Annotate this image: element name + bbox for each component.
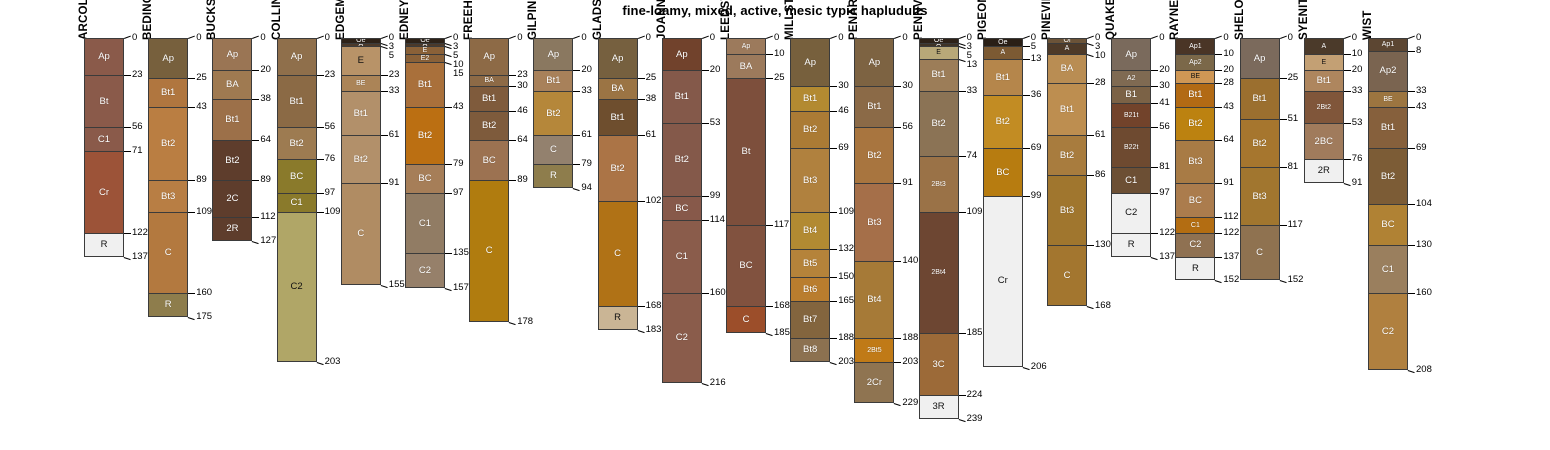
- horizon-ba[interactable]: BA: [212, 70, 252, 99]
- horizon-oe[interactable]: Oe: [983, 38, 1023, 46]
- horizon-c[interactable]: C: [469, 180, 509, 322]
- horizon-bt6[interactable]: Bt6: [790, 277, 830, 301]
- horizon-label: Bt2: [931, 119, 945, 129]
- profile-name-label: ARCOLA: [78, 0, 90, 40]
- horizon-bt1[interactable]: Bt1: [148, 78, 188, 107]
- horizon-bt1[interactable]: Bt1: [790, 86, 830, 112]
- horizon-label: A2: [1127, 75, 1136, 82]
- horizon-c[interactable]: C: [598, 201, 638, 306]
- depth-tick: [1408, 245, 1415, 246]
- horizon-be[interactable]: BE: [341, 75, 381, 91]
- horizon-ap[interactable]: Ap: [854, 38, 894, 86]
- horizon-bt8[interactable]: Bt8: [790, 338, 830, 362]
- horizon-ap[interactable]: Ap: [533, 38, 573, 70]
- depth-tick: [573, 135, 580, 136]
- horizon-c[interactable]: C: [726, 306, 766, 333]
- horizon-a[interactable]: A: [1304, 38, 1344, 54]
- depth-label: 175: [196, 312, 212, 322]
- horizon-bt5[interactable]: Bt5: [790, 249, 830, 278]
- horizon-bt2[interactable]: Bt2: [983, 95, 1023, 148]
- horizon-label: A: [1000, 49, 1005, 56]
- depth-tick: [1280, 119, 1287, 120]
- depth-label: 10: [1095, 51, 1106, 61]
- depth-label: 229: [902, 398, 918, 408]
- horizon-label: C2: [419, 266, 431, 276]
- horizon-bt2[interactable]: Bt2: [533, 91, 573, 136]
- horizon-bt3[interactable]: Bt3: [1175, 140, 1215, 183]
- horizon-label: C1: [419, 219, 431, 229]
- horizon-label: B1: [1125, 90, 1137, 100]
- horizon-c[interactable]: C: [533, 135, 573, 164]
- horizon-label: C: [486, 246, 493, 256]
- horizon-r[interactable]: R: [84, 233, 124, 257]
- horizon-ap2[interactable]: Ap2: [1175, 54, 1215, 70]
- horizon-c1[interactable]: C1: [1368, 245, 1408, 293]
- depth-label: 20: [710, 65, 721, 75]
- horizon-label: 2Bt3: [931, 181, 945, 188]
- profile-name-label: COLLINGTON: [271, 0, 283, 40]
- horizon-label: Ap1: [1189, 43, 1201, 50]
- horizon-bt2[interactable]: Bt2: [662, 123, 702, 196]
- depth-label: 46: [517, 106, 528, 116]
- depth-label: 38: [260, 94, 271, 104]
- horizon-r[interactable]: R: [1175, 257, 1215, 281]
- depth-label: 25: [1288, 73, 1299, 83]
- horizon-label: Ap1: [1382, 41, 1394, 48]
- horizon-c1[interactable]: C1: [405, 193, 445, 254]
- depth-label: 109: [838, 207, 854, 217]
- profile-name-label: EDNEYTOWN: [399, 0, 411, 40]
- depth-tick: [638, 135, 645, 136]
- horizon-bt2[interactable]: Bt2: [919, 91, 959, 156]
- depth-tick: [894, 362, 901, 363]
- horizon-ba[interactable]: BA: [1047, 54, 1087, 83]
- horizon-bt3[interactable]: Bt3: [1240, 167, 1280, 224]
- horizon-bt1[interactable]: Bt1: [983, 59, 1023, 96]
- horizon-ap2[interactable]: Ap2: [1368, 51, 1408, 91]
- horizon-c1[interactable]: C1: [1175, 217, 1215, 233]
- horizon-bc[interactable]: BC: [405, 164, 445, 193]
- horizon-c2[interactable]: C2: [405, 253, 445, 288]
- horizon-e[interactable]: E: [1304, 54, 1344, 70]
- horizon-r[interactable]: R: [1111, 233, 1151, 257]
- horizon-label: Bt2: [1252, 139, 1266, 149]
- horizon-label: Ap: [804, 58, 816, 68]
- horizon-label: Bt2: [354, 155, 368, 165]
- horizon-label: Bt1: [289, 97, 303, 107]
- depth-tick: [509, 75, 516, 76]
- depth-label: 0: [581, 33, 586, 43]
- horizon-ap[interactable]: Ap: [598, 38, 638, 78]
- depth-tick: [188, 293, 195, 294]
- depth-tick: [766, 225, 773, 226]
- horizon-2r[interactable]: 2R: [1304, 159, 1344, 183]
- depth-tick: [766, 306, 773, 307]
- horizon-bt1[interactable]: Bt1: [854, 86, 894, 127]
- horizon-label: Bt1: [546, 76, 560, 86]
- depth-label: 25: [774, 73, 785, 83]
- horizon-bt1[interactable]: Bt1: [598, 99, 638, 136]
- horizon-a2[interactable]: A2: [1111, 70, 1151, 86]
- depth-label: 13: [967, 60, 978, 70]
- horizon-2bt3[interactable]: 2Bt3: [919, 156, 959, 212]
- horizon-c1[interactable]: C1: [277, 193, 317, 212]
- horizon-c1[interactable]: C1: [84, 127, 124, 151]
- horizon-label: Bt3: [1188, 157, 1202, 167]
- soil-profile-chart: fine-loamy, mixed, active, mesic typic h…: [0, 0, 1550, 450]
- depth-tick: [1215, 217, 1222, 218]
- horizon-label: C1: [1382, 265, 1394, 275]
- horizon-c2[interactable]: C2: [1175, 233, 1215, 257]
- horizon-ap[interactable]: Ap: [1111, 38, 1151, 70]
- horizon-label: Bt1: [482, 94, 496, 104]
- depth-label: 76: [325, 154, 336, 164]
- horizon-ba[interactable]: BA: [726, 54, 766, 78]
- depth-label: 23: [132, 70, 143, 80]
- horizon-label: Bt1: [1188, 90, 1202, 100]
- depth-label: 185: [967, 328, 983, 338]
- depth-tick: [1023, 36, 1030, 39]
- horizon-label: BC: [996, 168, 1009, 178]
- horizon-label: Bt4: [803, 226, 817, 236]
- depth-tick: [702, 293, 709, 294]
- horizon-bt1[interactable]: Bt1: [919, 59, 959, 91]
- depth-tick: [1087, 175, 1094, 176]
- depth-label: 5: [1031, 42, 1036, 52]
- horizon-bt2[interactable]: Bt2: [212, 140, 252, 180]
- horizon-label: R: [1128, 240, 1135, 250]
- depth-tick: [1151, 193, 1158, 194]
- horizon-label: R: [1192, 264, 1199, 274]
- depth-label: 91: [1223, 178, 1234, 188]
- depth-label: 152: [1288, 275, 1304, 285]
- profile-name-label: SYENITE: [1298, 0, 1310, 40]
- horizon-c2[interactable]: C2: [1111, 193, 1151, 233]
- horizon-bc[interactable]: BC: [469, 140, 509, 180]
- depth-label: 64: [517, 135, 528, 145]
- horizon-c[interactable]: C: [148, 212, 188, 293]
- horizon-ap[interactable]: Ap: [212, 38, 252, 70]
- horizon-bt1[interactable]: Bt1: [341, 91, 381, 136]
- depth-tick: [1087, 54, 1094, 57]
- horizon-bt1[interactable]: Bt1: [469, 86, 509, 112]
- horizon-label: Bt2: [610, 164, 624, 174]
- horizon-e[interactable]: E: [405, 46, 445, 54]
- depth-tick: [1151, 70, 1158, 71]
- horizon-b1[interactable]: B1: [1111, 86, 1151, 104]
- depth-label: 0: [1416, 33, 1421, 43]
- horizon-bt1[interactable]: Bt1: [1240, 78, 1280, 119]
- horizon-bc[interactable]: BC: [726, 225, 766, 306]
- depth-tick: [830, 338, 837, 339]
- depth-label: 91: [1352, 178, 1363, 188]
- depth-label: 20: [1352, 65, 1363, 75]
- horizon-label: C: [1064, 271, 1071, 281]
- horizon-2cr[interactable]: 2Cr: [854, 362, 894, 403]
- depth-tick: [1280, 225, 1287, 226]
- horizon-be[interactable]: BE: [1175, 70, 1215, 83]
- depth-tick: [830, 249, 837, 250]
- depth-tick: [959, 395, 966, 396]
- horizon-label: Bt1: [161, 88, 175, 98]
- horizon-label: A: [1321, 43, 1326, 50]
- depth-tick: [1151, 103, 1158, 104]
- depth-tick: [317, 159, 324, 160]
- horizon-c[interactable]: C: [341, 183, 381, 285]
- horizon-c1[interactable]: C1: [1111, 167, 1151, 193]
- horizon-ap[interactable]: Ap: [469, 38, 509, 75]
- horizon-label: Bt2: [803, 125, 817, 135]
- horizon-bt2[interactable]: Bt2: [469, 111, 509, 140]
- depth-tick: [702, 123, 709, 124]
- horizon-bt2[interactable]: Bt2: [1175, 107, 1215, 140]
- horizon-label: 3C: [933, 360, 945, 370]
- depth-label: 10: [1352, 49, 1363, 59]
- horizon-label: C: [743, 315, 750, 325]
- depth-label: 109: [967, 207, 983, 217]
- horizon-label: 2Cr: [867, 378, 882, 388]
- horizon-ap1[interactable]: Ap1: [1175, 38, 1215, 54]
- depth-tick: [573, 188, 580, 191]
- horizon-c[interactable]: C: [1047, 245, 1087, 306]
- depth-tick: [894, 403, 901, 406]
- horizon-label: 2C: [226, 194, 238, 204]
- depth-tick: [1344, 36, 1351, 39]
- horizon-bt1[interactable]: Bt1: [1047, 83, 1087, 136]
- horizon-cr[interactable]: Cr: [983, 196, 1023, 367]
- depth-tick: [252, 241, 259, 244]
- horizon-ap[interactable]: Ap: [790, 38, 830, 86]
- depth-tick: [638, 306, 645, 307]
- horizon-bt1[interactable]: Bt1: [1175, 83, 1215, 107]
- depth-tick: [445, 253, 452, 254]
- horizon-c2[interactable]: C2: [1368, 293, 1408, 370]
- horizon-bt1[interactable]: Bt1: [277, 75, 317, 128]
- depth-label: 117: [1288, 220, 1303, 230]
- horizon-bt3[interactable]: Bt3: [790, 148, 830, 212]
- horizon-bt7[interactable]: Bt7: [790, 301, 830, 338]
- horizon-ap[interactable]: Ap: [1240, 38, 1280, 78]
- depth-tick: [1215, 183, 1222, 184]
- horizon-a[interactable]: A: [1047, 43, 1087, 54]
- depth-label: 224: [967, 390, 983, 400]
- depth-label: 168: [646, 301, 662, 311]
- depth-tick: [638, 201, 645, 202]
- depth-label: 33: [967, 86, 978, 96]
- horizon-ba[interactable]: BA: [469, 75, 509, 86]
- depth-tick: [894, 86, 901, 87]
- horizon-label: 2R: [226, 224, 238, 234]
- depth-tick: [1408, 148, 1415, 149]
- horizon-bt1[interactable]: Bt1: [662, 70, 702, 123]
- horizon-c2[interactable]: C2: [662, 293, 702, 382]
- depth-label: 43: [196, 102, 207, 112]
- horizon-label: 3R: [933, 402, 945, 412]
- depth-label: 76: [1352, 154, 1363, 164]
- depth-label: 185: [774, 328, 790, 338]
- horizon-bt4[interactable]: Bt4: [790, 212, 830, 249]
- horizon-2bt5[interactable]: 2Bt5: [854, 338, 894, 362]
- depth-label: 130: [1095, 240, 1111, 250]
- horizon-b22t[interactable]: B22t: [1111, 127, 1151, 167]
- depth-label: 30: [517, 81, 528, 91]
- depth-tick: [894, 261, 901, 262]
- horizon-bt1[interactable]: Bt1: [212, 99, 252, 140]
- depth-label: 30: [838, 81, 849, 91]
- horizon-ba[interactable]: BA: [598, 78, 638, 99]
- depth-label: 130: [1416, 240, 1432, 250]
- depth-label: 56: [325, 122, 336, 132]
- horizon-label: C2: [676, 333, 688, 343]
- horizon-bc[interactable]: BC: [1175, 183, 1215, 216]
- horizon-label: BE: [1191, 73, 1200, 80]
- horizon-bt2[interactable]: Bt2: [148, 107, 188, 180]
- horizon-ap1[interactable]: Ap1: [1368, 38, 1408, 51]
- depth-label: 104: [1416, 199, 1432, 209]
- horizon-bt2[interactable]: Bt2: [405, 107, 445, 164]
- depth-tick: [1023, 59, 1030, 60]
- depth-tick: [1408, 36, 1415, 39]
- horizon-bt2[interactable]: Bt2: [1240, 119, 1280, 167]
- depth-label: 112: [1223, 212, 1238, 222]
- horizon-bt[interactable]: Bt: [726, 78, 766, 225]
- horizon-bt1[interactable]: Bt1: [1368, 107, 1408, 148]
- depth-label: 0: [838, 33, 843, 43]
- horizon-bt1[interactable]: Bt1: [1304, 70, 1344, 91]
- profile-name-label: WIST: [1362, 10, 1374, 40]
- depth-tick: [1408, 204, 1415, 205]
- horizon-label: 2Bt4: [931, 269, 945, 276]
- horizon-bt2[interactable]: Bt2: [1047, 135, 1087, 175]
- horizon-label: C: [357, 229, 364, 239]
- horizon-2bt2[interactable]: 2Bt2: [1304, 91, 1344, 123]
- depth-tick: [958, 59, 965, 62]
- horizon-bt2[interactable]: Bt2: [277, 127, 317, 159]
- depth-tick: [1151, 36, 1158, 39]
- depth-tick: [381, 36, 388, 39]
- horizon-bc[interactable]: BC: [1368, 204, 1408, 245]
- depth-tick: [252, 180, 259, 181]
- depth-label: 0: [196, 33, 201, 43]
- horizon-label: 2Bt5: [867, 347, 881, 354]
- horizon-bt2[interactable]: Bt2: [341, 135, 381, 183]
- horizon-label: BE: [1383, 96, 1392, 103]
- depth-label: 99: [1031, 191, 1042, 201]
- horizon-bt2[interactable]: Bt2: [598, 135, 638, 200]
- horizon-ap[interactable]: Ap: [277, 38, 317, 75]
- depth-label: 20: [260, 65, 271, 75]
- depth-label: 0: [1288, 33, 1293, 43]
- horizon-label: E: [423, 47, 428, 54]
- horizon-e[interactable]: E: [341, 46, 381, 75]
- depth-tick: [1344, 123, 1351, 124]
- horizon-bt[interactable]: Bt: [84, 75, 124, 128]
- horizon-r[interactable]: R: [598, 306, 638, 330]
- depth-tick: [124, 233, 131, 234]
- depth-label: 69: [838, 143, 849, 153]
- horizon-label: BC: [483, 156, 496, 166]
- horizon-bc[interactable]: BC: [277, 159, 317, 192]
- depth-tick: [702, 196, 709, 197]
- depth-label: 122: [132, 228, 148, 238]
- horizon-a[interactable]: A: [983, 46, 1023, 59]
- horizon-c1[interactable]: C1: [662, 220, 702, 293]
- profile-name-label: BEDINGTON: [142, 0, 154, 40]
- depth-label: 79: [581, 159, 592, 169]
- horizon-ap[interactable]: Ap: [662, 38, 702, 70]
- horizon-be[interactable]: BE: [1368, 91, 1408, 107]
- depth-label: 10: [774, 49, 785, 59]
- horizon-c[interactable]: C: [1240, 225, 1280, 281]
- depth-tick: [445, 54, 452, 57]
- horizon-2bt4[interactable]: 2Bt4: [919, 212, 959, 333]
- horizon-label: Bt1: [1317, 76, 1331, 86]
- horizon-e[interactable]: E: [919, 46, 959, 59]
- horizon-bt3[interactable]: Bt3: [854, 183, 894, 261]
- depth-tick: [638, 36, 645, 39]
- depth-label: 53: [1352, 118, 1363, 128]
- horizon-2c[interactable]: 2C: [212, 180, 252, 217]
- horizon-ap[interactable]: Ap: [148, 38, 188, 78]
- horizon-r[interactable]: R: [533, 164, 573, 188]
- horizon-ap[interactable]: Ap: [726, 38, 766, 54]
- depth-tick: [1022, 367, 1029, 370]
- depth-label: 56: [132, 122, 143, 132]
- horizon-3c[interactable]: 3C: [919, 333, 959, 395]
- horizon-2r[interactable]: 2R: [212, 217, 252, 241]
- horizon-bt1[interactable]: Bt1: [405, 62, 445, 107]
- depth-tick: [830, 362, 837, 365]
- depth-label: 0: [325, 33, 330, 43]
- horizon-2bc[interactable]: 2BC: [1304, 123, 1344, 160]
- depth-label: 0: [710, 33, 715, 43]
- depth-tick: [445, 107, 452, 108]
- horizon-label: Bt2: [1188, 119, 1202, 129]
- horizon-r[interactable]: R: [148, 293, 188, 317]
- depth-tick: [1023, 46, 1030, 47]
- horizon-ap[interactable]: Ap: [84, 38, 124, 75]
- depth-label: 135: [453, 248, 469, 258]
- horizon-bt2[interactable]: Bt2: [1368, 148, 1408, 204]
- horizon-bc[interactable]: BC: [662, 196, 702, 220]
- horizon-label: B22t: [1124, 144, 1138, 151]
- horizon-label: Bt3: [161, 192, 175, 202]
- horizon-bc[interactable]: BC: [983, 148, 1023, 196]
- horizon-bt4[interactable]: Bt4: [854, 261, 894, 338]
- horizon-label: Bt1: [1060, 105, 1074, 115]
- horizon-bt2[interactable]: Bt2: [790, 111, 830, 148]
- horizon-bt2[interactable]: Bt2: [854, 127, 894, 183]
- horizon-label: Bt8: [803, 345, 817, 355]
- horizon-bt3[interactable]: Bt3: [1047, 175, 1087, 245]
- depth-tick: [1087, 83, 1094, 84]
- horizon-3r[interactable]: 3R: [919, 395, 959, 419]
- depth-tick: [509, 36, 516, 39]
- horizon-e2[interactable]: E2: [405, 54, 445, 62]
- horizon-label: Ap: [548, 50, 560, 60]
- depth-label: 89: [517, 175, 528, 185]
- horizon-bt3[interactable]: Bt3: [148, 180, 188, 212]
- horizon-b21t[interactable]: B21t: [1111, 103, 1151, 127]
- depth-tick: [637, 330, 644, 333]
- horizon-cr[interactable]: Cr: [84, 151, 124, 232]
- depth-label: 178: [517, 317, 533, 327]
- horizon-c2[interactable]: C2: [277, 212, 317, 362]
- horizon-label: C1: [1191, 222, 1200, 229]
- profile-name-label: GILPIN: [527, 0, 539, 40]
- horizon-bt1[interactable]: Bt1: [533, 70, 573, 91]
- depth-tick: [766, 78, 773, 79]
